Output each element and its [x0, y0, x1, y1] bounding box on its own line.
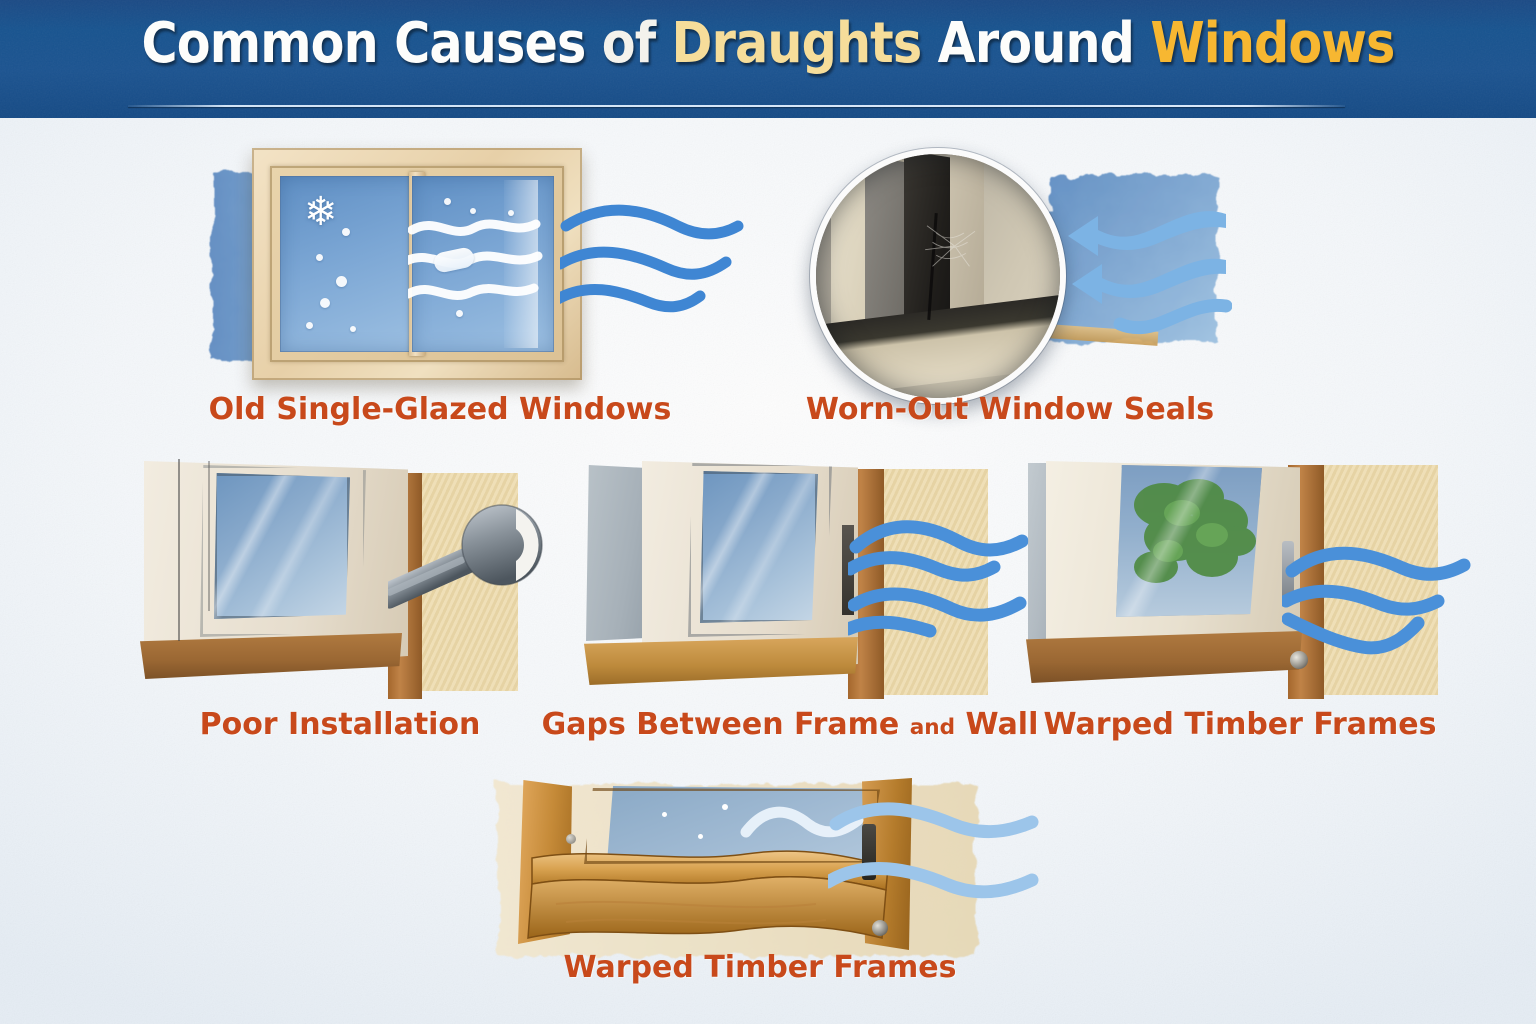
reveal-edge-line [178, 459, 180, 641]
title-part-3: Draughts [672, 11, 938, 76]
snowflake-icon: ❄ [304, 192, 338, 232]
caption-text-prefix: Gaps Between Frame [542, 707, 910, 742]
window-glass [1116, 465, 1262, 617]
snow-dot [342, 228, 350, 236]
caption-gaps-between-frame-and-wall: Gaps Between Frame and Wall [542, 707, 1039, 742]
header-banner: Common Causes of Draughts Around Windows [0, 0, 1536, 118]
title-part-1: Common Causes [141, 11, 601, 76]
caption-text-conjunction: and [910, 715, 955, 740]
fixing-screw [566, 834, 576, 844]
wrench-icon [388, 493, 548, 603]
window-sill [1026, 631, 1302, 683]
snow-dot [320, 298, 330, 308]
draught-wave-icon [560, 200, 750, 325]
snow-dot [306, 322, 313, 329]
card-old-single-glazed-windows: ❄ [190, 140, 690, 440]
glass-pane-left: ❄ [280, 176, 422, 352]
frame-bead [688, 463, 832, 637]
title-part-4: Around [938, 11, 1151, 76]
glass-pane-right [412, 176, 554, 352]
caption-warped-timber-frames-bottom: Warped Timber Frames [564, 950, 957, 985]
card-warped-timber-frames-bottom: Warped Timber Frames [480, 772, 1040, 1022]
caption-text: Old Single-Glazed Windows [209, 392, 672, 427]
window-frame-inner: ❄ [270, 166, 564, 362]
wrench-glyph [388, 493, 558, 613]
card-warped-timber-frames-right: Warped Timber Frames [1020, 455, 1460, 755]
window-sill [584, 637, 858, 685]
snow-dot [444, 198, 451, 205]
card-poor-installation: Poor Installation [130, 455, 550, 755]
caption-poor-installation: Poor Installation [200, 707, 481, 742]
caption-text: Poor Installation [200, 707, 481, 742]
snow-dot [350, 326, 356, 332]
draught-wave-icon [848, 513, 1038, 643]
caption-worn-out-window-seals: Worn-Out Window Seals [806, 392, 1214, 427]
snow-dot [456, 310, 463, 317]
draught-wave-icon [828, 798, 1058, 928]
draught-arrow-icon [1012, 198, 1232, 338]
snow-dot [316, 254, 323, 261]
caption-text: Worn-Out Window Seals [806, 392, 1214, 427]
page-title: Common Causes of Draughts Around Windows [92, 16, 1444, 72]
infographic-page: Common Causes of Draughts Around Windows [0, 0, 1536, 1024]
glass-glare [1116, 465, 1262, 617]
title-part-2: of [602, 11, 672, 76]
caption-text: Warped Timber Frames [1044, 707, 1437, 742]
snow-dot [336, 276, 347, 287]
card-worn-out-window-seals: Worn-Out Window Seals [790, 140, 1230, 440]
window-frame-outer: ❄ [252, 148, 582, 380]
snow-dot [508, 210, 514, 216]
title-underline-rule [128, 105, 1345, 107]
frame-bead [200, 465, 366, 637]
draught-wave-icon [1282, 543, 1472, 669]
caption-old-single-glazed: Old Single-Glazed Windows [209, 392, 672, 427]
title-part-5: Windows [1150, 11, 1394, 76]
ice-streak-icon [408, 210, 558, 310]
caption-text: Warped Timber Frames [564, 950, 957, 985]
reveal-edge-line [208, 461, 210, 611]
snow-dot [470, 208, 476, 214]
card-gaps-between-frame-and-wall: Gaps Between Frame and Wall [570, 455, 1010, 755]
caption-warped-timber-frames-right: Warped Timber Frames [1044, 707, 1437, 742]
